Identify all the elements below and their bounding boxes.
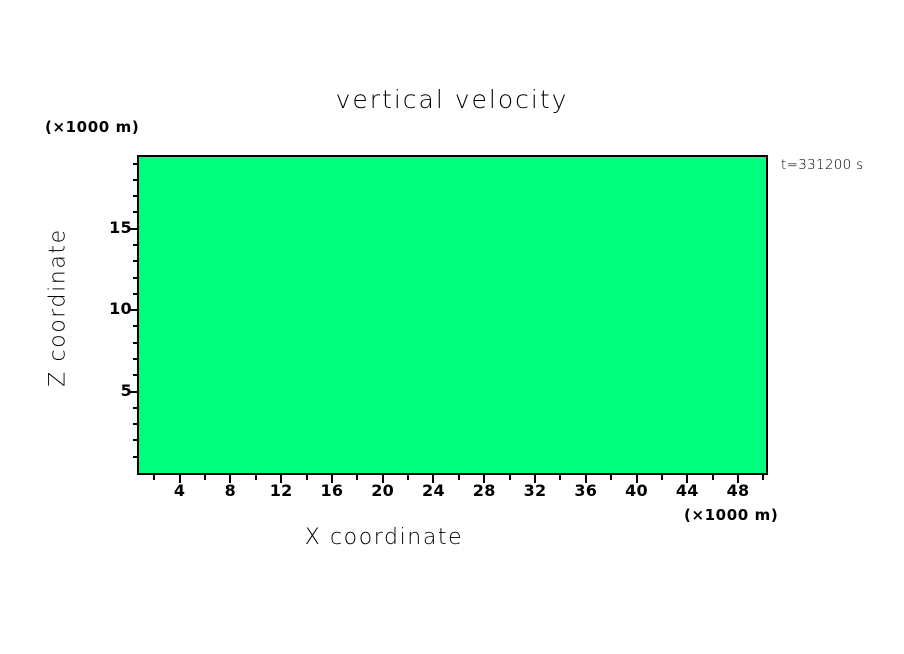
vertical-velocity-field — [139, 157, 766, 473]
y-tick — [133, 342, 138, 344]
x-tick — [712, 475, 714, 480]
y-axis-unit-label: (×1000 m) — [45, 118, 139, 136]
y-tick — [133, 358, 138, 360]
y-tick-label: 5 — [121, 381, 132, 400]
x-tick-label: 48 — [716, 481, 760, 500]
x-tick-label: 12 — [259, 481, 303, 500]
x-tick — [153, 475, 155, 480]
x-tick-label: 36 — [564, 481, 608, 500]
x-tick-label: 32 — [513, 481, 557, 500]
y-tick — [133, 211, 138, 213]
x-tick-label: 4 — [158, 481, 202, 500]
page-title: vertical velocity — [0, 85, 904, 114]
x-tick — [661, 475, 663, 480]
colorbar-tick-labels — [812, 205, 872, 525]
colorbar[interactable] — [779, 205, 809, 525]
x-tick — [407, 475, 409, 480]
x-axis-unit-label: (×1000 m) — [684, 506, 778, 524]
x-tick — [762, 475, 764, 480]
y-tick — [133, 277, 138, 279]
contour-plot-area[interactable] — [137, 155, 768, 475]
x-tick-label: 40 — [615, 481, 659, 500]
x-tick — [458, 475, 460, 480]
timestamp-annotation: t=331200 s — [781, 157, 863, 173]
x-axis-title: X coordinate — [0, 525, 768, 550]
y-tick — [133, 244, 138, 246]
y-tick — [133, 293, 138, 295]
x-tick — [255, 475, 257, 480]
y-tick — [133, 260, 138, 262]
x-tick-label: 28 — [462, 481, 506, 500]
x-tick — [559, 475, 561, 480]
y-tick — [133, 374, 138, 376]
x-tick — [610, 475, 612, 480]
y-tick — [133, 439, 138, 441]
x-tick-label: 8 — [208, 481, 252, 500]
x-tick — [509, 475, 511, 480]
x-tick-label: 20 — [361, 481, 405, 500]
y-tick — [133, 407, 138, 409]
y-tick-label: 10 — [109, 299, 132, 318]
y-axis-title: Z coordinate — [46, 188, 71, 428]
y-tick — [133, 423, 138, 425]
x-tick — [356, 475, 358, 480]
x-tick — [306, 475, 308, 480]
x-tick-label: 24 — [411, 481, 455, 500]
x-tick — [204, 475, 206, 480]
y-axis-tick-labels: 51015 — [88, 155, 132, 475]
y-tick — [133, 195, 138, 197]
x-tick-label: 16 — [310, 481, 354, 500]
y-tick — [133, 325, 138, 327]
y-tick — [133, 179, 138, 181]
y-tick — [133, 456, 138, 458]
y-tick-label: 15 — [109, 218, 132, 237]
y-tick — [133, 163, 138, 165]
x-tick-label: 44 — [665, 481, 709, 500]
